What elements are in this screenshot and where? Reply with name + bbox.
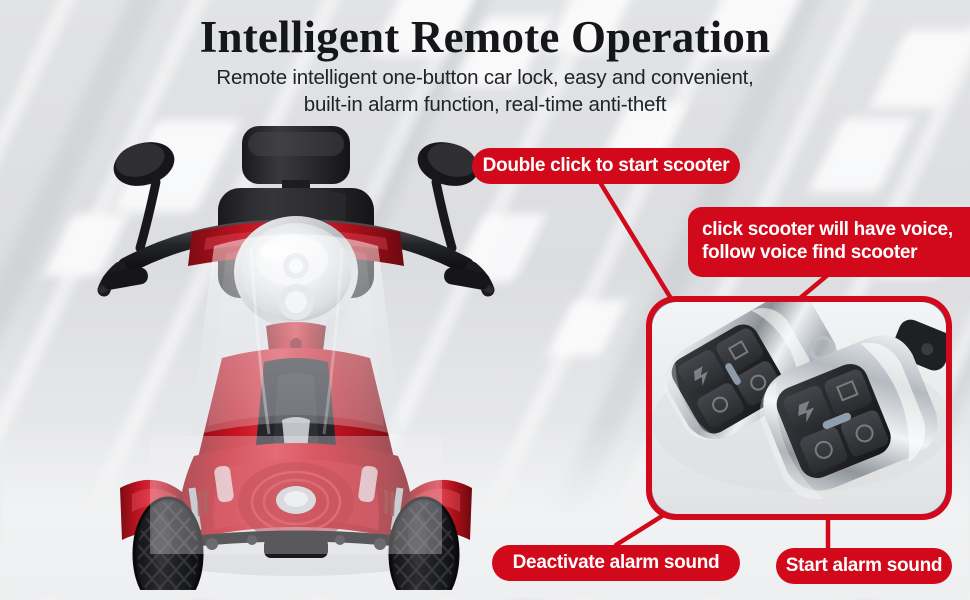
callout-deactivate-alarm[interactable]: Deactivate alarm sound: [492, 545, 740, 581]
subtitle-line-2: built-in alarm function, real-time anti-…: [0, 91, 970, 118]
infographic-canvas: Intelligent Remote Operation Remote inte…: [0, 0, 970, 600]
subtitle-line-1: Remote intelligent one-button car lock, …: [0, 64, 970, 91]
scooter-image: [96, 120, 496, 590]
callout-double-click[interactable]: Double click to start scooter: [472, 148, 740, 184]
page-subtitle: Remote intelligent one-button car lock, …: [0, 64, 970, 118]
page-title: Intelligent Remote Operation: [0, 14, 970, 61]
key-fob-inset: [652, 302, 946, 514]
callout-voice[interactable]: click scooter will have voice, follow vo…: [688, 207, 970, 277]
callout-start-alarm[interactable]: Start alarm sound: [776, 548, 952, 584]
